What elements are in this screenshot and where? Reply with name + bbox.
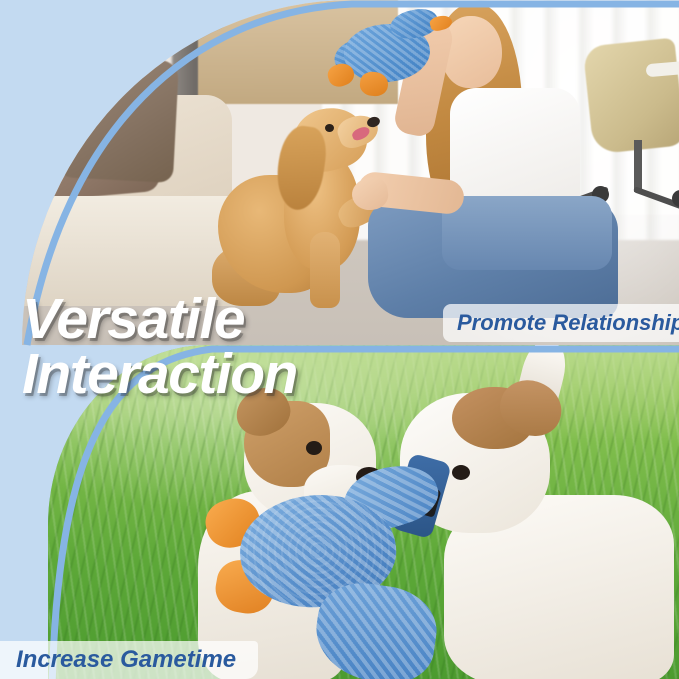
caption-bottom-label: Increase Gametime — [16, 646, 236, 674]
girl-face — [442, 16, 502, 88]
caption-increase-gametime: Increase Gametime — [0, 641, 258, 679]
product-feature-banner: Versatile Interaction Promote Relationsh… — [0, 0, 679, 679]
terrier-left-eye — [306, 441, 322, 455]
page-title: Versatile Interaction — [22, 292, 442, 401]
office-chair-seat — [583, 37, 679, 154]
sofa-pillow-right — [55, 55, 179, 183]
terrier-right-eye — [452, 465, 470, 480]
spaniel-eye — [325, 124, 334, 132]
caption-promote-relationship: Promote Relationship — [443, 304, 679, 342]
office-chair-stem — [634, 140, 642, 192]
caption-top-label: Promote Relationship — [457, 310, 679, 336]
girl-jeans-hip — [442, 196, 612, 270]
